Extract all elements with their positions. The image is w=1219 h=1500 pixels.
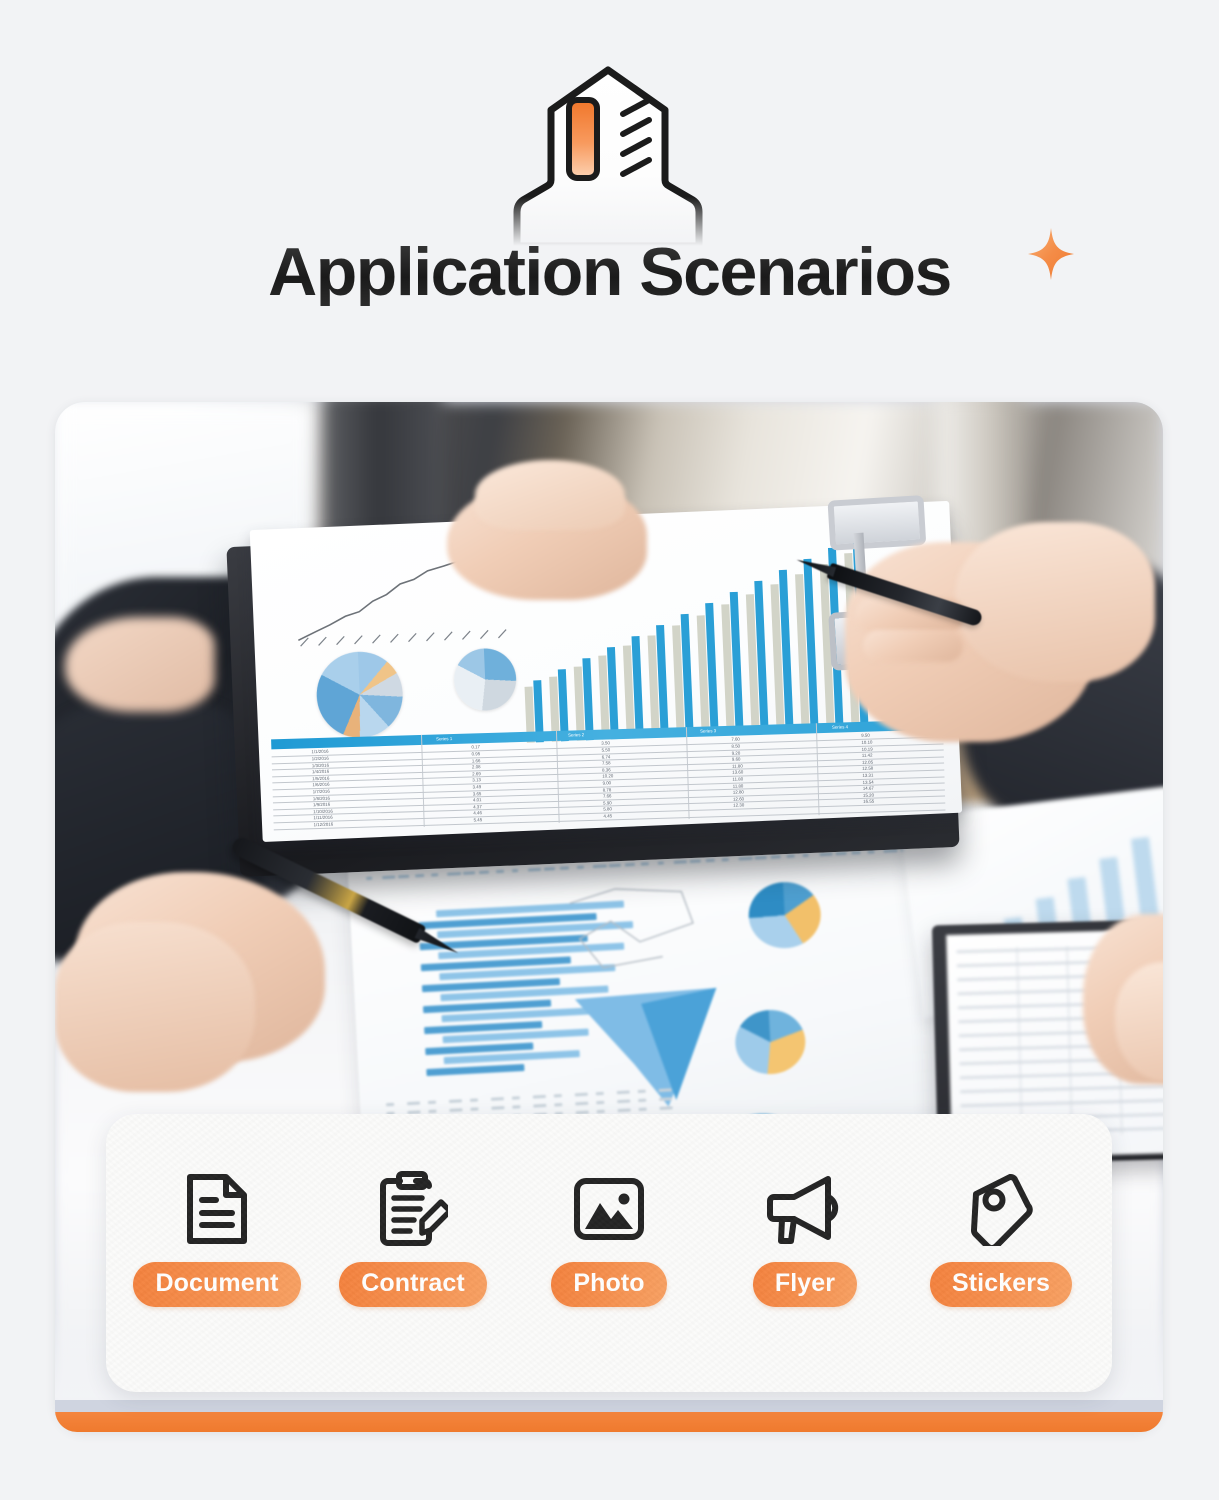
finger-right-2 bbox=[863, 630, 963, 662]
table-cell: 0.17 bbox=[471, 745, 480, 750]
paper-text-mark bbox=[528, 868, 541, 872]
paper-text-mark bbox=[447, 872, 461, 876]
table-cell: 11.80 bbox=[732, 776, 743, 781]
table-cell: 5.50 bbox=[601, 747, 610, 752]
table-cell: 4.37 bbox=[473, 804, 482, 809]
paper-text-mark bbox=[868, 850, 875, 853]
paper-text-mark bbox=[617, 1090, 630, 1093]
table-cell: 4.45 bbox=[603, 813, 612, 818]
paper-text-mark bbox=[544, 867, 555, 871]
table-cell: 0.95 bbox=[472, 751, 481, 756]
table-cell: 4.01 bbox=[473, 797, 482, 802]
category-badge-document[interactable]: Document bbox=[133, 1262, 300, 1307]
paper-text-mark bbox=[491, 1106, 504, 1109]
paper-text-mark bbox=[407, 1101, 420, 1104]
table-cell: 4.46 bbox=[473, 811, 482, 816]
ruled-line bbox=[960, 1085, 1163, 1092]
paper-pie-chart-1 bbox=[747, 880, 822, 950]
report-pie-chart-1 bbox=[315, 650, 405, 740]
paper-text-mark bbox=[560, 866, 569, 869]
paper-text-mark bbox=[617, 1099, 630, 1102]
scenario-categories-card: Document Contract bbox=[106, 1114, 1112, 1392]
paper-text-mark bbox=[512, 1096, 520, 1099]
paper-text-mark bbox=[449, 1108, 462, 1111]
table-cell: 2.69 bbox=[472, 771, 481, 776]
table-cell: 9.60 bbox=[732, 757, 741, 762]
paper-text-mark bbox=[491, 1097, 504, 1100]
table-cell: 1/9/2016 bbox=[313, 802, 330, 808]
table-cell: 9.00 bbox=[602, 780, 611, 785]
table-cell: 13.31 bbox=[862, 773, 873, 778]
table-cell: 9.20 bbox=[732, 750, 741, 755]
table-cell: 1/1/2016 bbox=[311, 749, 328, 755]
table-header-cell: Series 3 bbox=[700, 728, 716, 733]
table-cell: 1/11/2016 bbox=[313, 815, 332, 821]
paper-text-mark bbox=[657, 861, 663, 864]
category-item-flyer[interactable]: Flyer bbox=[731, 1170, 879, 1307]
table-cell: 5.45 bbox=[473, 817, 482, 822]
paper-text-mark bbox=[575, 1102, 588, 1105]
paper-text-mark bbox=[479, 871, 489, 875]
table-cell: 1.66 bbox=[472, 758, 481, 763]
ruled-line bbox=[961, 1099, 1163, 1106]
paper-text-mark bbox=[431, 873, 438, 876]
category-item-stickers[interactable]: Stickers bbox=[927, 1170, 1075, 1307]
photo-bottom-accent-bar bbox=[55, 1410, 1163, 1432]
table-cell: 12.60 bbox=[733, 796, 744, 801]
paper-pie-chart-2 bbox=[734, 1008, 807, 1076]
building-tower-icon bbox=[497, 62, 719, 247]
table-cell: 3.50 bbox=[601, 741, 610, 746]
page-title: Application Scenarios bbox=[268, 238, 951, 306]
table-cell: 13.54 bbox=[863, 779, 874, 784]
table-cell: 13.60 bbox=[732, 770, 743, 775]
table-cell: 1/2/2016 bbox=[312, 756, 329, 762]
category-badge-flyer[interactable]: Flyer bbox=[753, 1262, 857, 1307]
ruled-column-divider bbox=[1017, 947, 1023, 1137]
paper-text-mark bbox=[398, 875, 409, 879]
table-cell: 11.80 bbox=[732, 763, 743, 768]
paper-text-mark bbox=[738, 857, 752, 861]
category-item-contract[interactable]: Contract bbox=[339, 1170, 487, 1307]
table-header-cell: Series 4 bbox=[832, 724, 848, 729]
table-cell: 12.30 bbox=[733, 803, 744, 808]
sparkle-star-icon bbox=[1028, 228, 1074, 280]
paper-text-mark bbox=[496, 870, 504, 873]
table-cell: 1/12/2016 bbox=[314, 822, 334, 828]
hand-right-upper bbox=[955, 522, 1155, 682]
paper-text-mark bbox=[722, 858, 729, 861]
paper-text-mark bbox=[754, 856, 766, 860]
paper-text-mark bbox=[638, 1099, 646, 1102]
table-cell: 7.58 bbox=[602, 761, 611, 766]
table-cell: 11.42 bbox=[862, 753, 873, 758]
category-item-document[interactable]: Document bbox=[143, 1170, 291, 1307]
paper-text-mark bbox=[819, 853, 832, 857]
table-cell: 10.19 bbox=[862, 746, 873, 751]
table-cell: 6.74 bbox=[602, 754, 611, 759]
table-cell: 1/4/2016 bbox=[312, 769, 329, 775]
table-cell: 5.90 bbox=[603, 800, 612, 805]
paper-text-mark bbox=[470, 1098, 478, 1101]
paper-text-mark bbox=[609, 864, 621, 868]
ruled-column-divider bbox=[1066, 946, 1072, 1136]
paper-text-mark bbox=[449, 1099, 462, 1102]
paper-text-mark bbox=[803, 854, 809, 857]
paper-text-mark bbox=[470, 1107, 478, 1110]
category-list: Document Contract bbox=[106, 1170, 1112, 1307]
paper-text-mark bbox=[706, 859, 715, 862]
paper-text-mark bbox=[659, 1097, 672, 1100]
paper-text-mark bbox=[659, 1088, 672, 1091]
paper-text-mark bbox=[415, 874, 424, 877]
table-cell: 14.67 bbox=[863, 786, 874, 791]
paper-text-mark bbox=[851, 851, 860, 854]
paper-text-mark bbox=[428, 1101, 436, 1104]
scatter-outline-chart bbox=[563, 876, 708, 978]
paper-text-mark bbox=[597, 1110, 605, 1113]
megaphone-icon bbox=[766, 1170, 844, 1248]
paper-text-mark bbox=[674, 860, 687, 864]
category-badge-contract[interactable]: Contract bbox=[339, 1262, 487, 1307]
table-cell: 10.20 bbox=[602, 774, 613, 779]
table-cell: 1/3/2016 bbox=[312, 762, 329, 768]
table-cell: 1/5/2016 bbox=[312, 776, 329, 782]
paper-text-mark bbox=[533, 1095, 546, 1098]
paper-text-mark bbox=[463, 871, 475, 875]
table-cell: 12.58 bbox=[862, 766, 873, 771]
paper-text-mark bbox=[533, 1104, 546, 1107]
paper-text-mark bbox=[576, 866, 583, 869]
hand-bottom-left-fingers bbox=[55, 922, 255, 1092]
paper-text-mark bbox=[641, 862, 649, 865]
paper-text-mark bbox=[690, 859, 701, 863]
arm-left bbox=[65, 617, 215, 712]
paper-text-mark bbox=[554, 1103, 562, 1106]
table-cell: 3.13 bbox=[472, 778, 481, 783]
paper-hbar bbox=[426, 1063, 524, 1075]
paper-text-mark bbox=[787, 855, 795, 858]
paper-text-mark bbox=[428, 1110, 436, 1113]
paper-text-mark bbox=[512, 1105, 520, 1108]
table-cell: 2.08 bbox=[472, 764, 481, 769]
table-cell: 1/10/2016 bbox=[313, 808, 333, 814]
table-cell: 12.05 bbox=[862, 759, 873, 764]
table-header-cell: Series 1 bbox=[436, 736, 452, 741]
paper-text-mark bbox=[386, 1103, 394, 1106]
paper-text-mark bbox=[366, 877, 372, 880]
paper-text-mark bbox=[771, 855, 781, 859]
table-cell: 3.65 bbox=[473, 791, 482, 796]
paper-text-mark bbox=[639, 1108, 647, 1111]
table-cell: 9.50 bbox=[861, 733, 870, 738]
table-cell: 1/6/2016 bbox=[312, 782, 329, 788]
table-cell: 7.66 bbox=[603, 794, 612, 799]
table-cell: 7.60 bbox=[731, 737, 740, 742]
paper-text-mark bbox=[596, 1092, 604, 1095]
table-cell: 3.49 bbox=[473, 784, 482, 789]
table-cell: 10.10 bbox=[861, 740, 872, 745]
fingers-top-left bbox=[475, 460, 625, 530]
table-cell: 11.80 bbox=[733, 783, 744, 788]
page-header: Application Scenarios bbox=[0, 0, 1219, 390]
document-icon bbox=[185, 1170, 249, 1248]
category-badge-photo[interactable]: Photo bbox=[551, 1262, 666, 1307]
category-item-photo[interactable]: Photo bbox=[535, 1170, 683, 1307]
category-badge-stickers[interactable]: Stickers bbox=[930, 1262, 1072, 1307]
paper-text-mark bbox=[596, 1101, 604, 1104]
table-cell: 8.50 bbox=[731, 744, 740, 749]
table-header-cell: Series 2 bbox=[568, 732, 584, 737]
paper-text-mark bbox=[575, 1093, 588, 1096]
paper-text-mark bbox=[625, 863, 635, 867]
report-data-table: Series 1Series 2Series 3Series 41/1/2016… bbox=[271, 719, 945, 831]
table-cell: 12.80 bbox=[733, 790, 744, 795]
table-cell: 8.36 bbox=[602, 767, 611, 772]
table-cell: 15.20 bbox=[863, 792, 874, 797]
photo-accent-mask bbox=[55, 1400, 1163, 1412]
table-cell: 16.55 bbox=[863, 799, 874, 804]
paper-text-mark bbox=[660, 1106, 673, 1109]
table-cell: 5.80 bbox=[603, 807, 612, 812]
report-pie-chart-2 bbox=[453, 647, 518, 712]
table-cell: 1/8/2016 bbox=[313, 795, 330, 801]
table-cell: 8.78 bbox=[603, 787, 612, 792]
paper-text-mark bbox=[512, 869, 518, 872]
price-tag-icon bbox=[966, 1170, 1036, 1248]
paper-text-mark bbox=[835, 852, 846, 856]
paper-text-mark bbox=[382, 875, 395, 879]
image-icon bbox=[573, 1170, 645, 1248]
paper-text-mark bbox=[554, 1094, 562, 1097]
paper-text-mark bbox=[638, 1090, 646, 1093]
table-cell: 1/7/2016 bbox=[313, 789, 330, 795]
clipboard-pen-icon bbox=[378, 1170, 448, 1248]
paper-text-mark bbox=[593, 864, 607, 868]
paper-text-mark bbox=[618, 1108, 631, 1111]
